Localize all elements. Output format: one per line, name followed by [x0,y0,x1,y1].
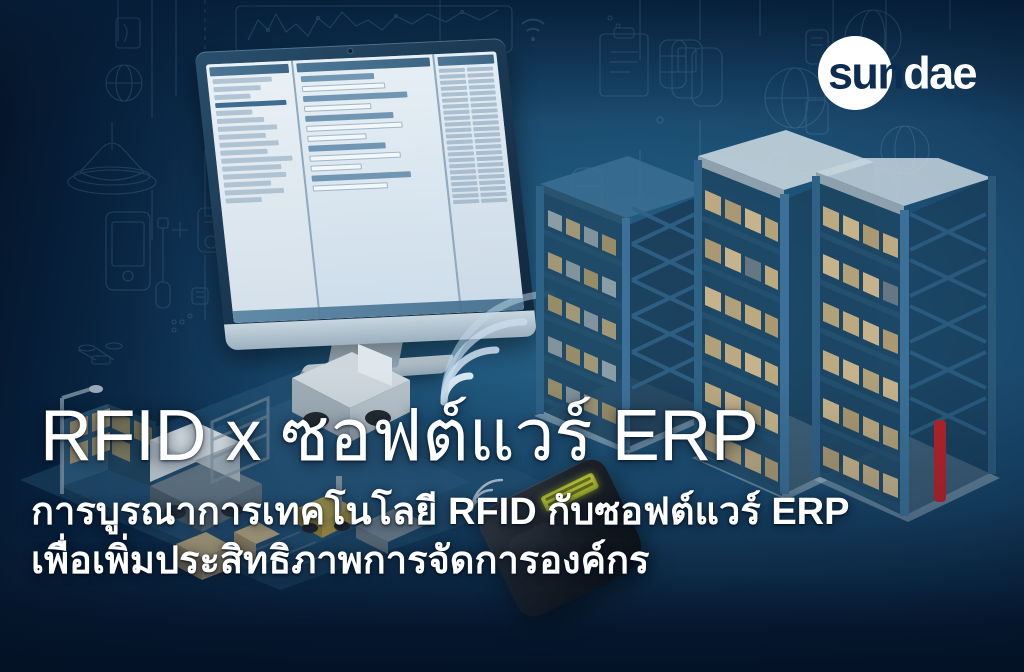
logo-text-light: dae [903,48,976,99]
logo-text-dark: sun [828,48,903,99]
banner-canvas: sundae RFID x ซอฟต์แวร์ ERP การบูรณาการเ… [0,0,1024,672]
sundae-logo[interactable]: sundae [818,36,993,110]
logo-wordmark: sundae [828,51,976,96]
